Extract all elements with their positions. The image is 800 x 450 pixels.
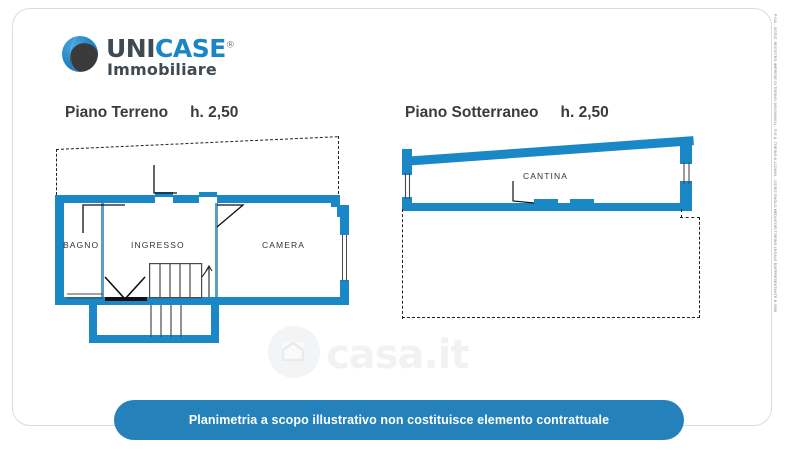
ground-floor-title-text: Piano Terreno [65, 104, 168, 121]
stairwell-wall-right [211, 305, 219, 343]
wall-exterior-left [55, 195, 64, 305]
ground-floor-drawing: BAGNO INGRESSO CAMERA [55, 135, 375, 345]
basement-boundary-dash-stub [681, 209, 682, 218]
door-swing-ingresso-top [151, 163, 181, 197]
legal-strip: P.IVA - ISCRIZ. REGISTRO IMPRESE DI TORI… [770, 14, 788, 394]
basement-height: h. 2,50 [561, 104, 609, 121]
basement-wall-right-upper [680, 138, 692, 164]
registered-mark-icon: ® [226, 41, 235, 51]
logo-word-uni: UNI [106, 34, 155, 63]
ground-floor-title: Piano Terrenoh. 2,50 [65, 104, 238, 122]
ground-floor-height: h. 2,50 [190, 104, 238, 121]
room-label-cantina: CANTINA [523, 171, 568, 181]
wall-exterior-top [55, 195, 339, 203]
basement-title: Piano Sotterraneoh. 2,50 [405, 104, 609, 122]
basement-door-threshold-1 [534, 199, 558, 204]
basement-wall-top [402, 136, 694, 166]
basement-door-threshold-2 [570, 199, 594, 204]
staircase-lower [149, 305, 207, 342]
basement-wall-bottom [402, 203, 682, 211]
disclaimer-text: Planimetria a scopo illustrativo non cos… [189, 413, 609, 427]
disclaimer-banner: Planimetria a scopo illustrativo non cos… [114, 400, 684, 440]
basement-boundary-dash-right [699, 217, 700, 318]
logo-wordmark: UNICASE® [106, 34, 234, 63]
wall-exterior-right-mid [340, 217, 349, 235]
logo-subtitle: Immobiliare [107, 60, 217, 79]
basement-window-left [403, 173, 413, 204]
company-logo: UNICASE® Immobiliare [62, 34, 282, 88]
boundary-dash-right [338, 136, 339, 194]
basement-boundary-dash-bottom [402, 317, 700, 318]
basement-title-text: Piano Sotterraneo [405, 104, 539, 121]
basement-window-right [681, 162, 693, 189]
logo-word-case: CASE [155, 34, 226, 63]
door-swing-camera [215, 203, 249, 233]
basement-door-swing [510, 179, 536, 205]
basement-boundary-dash-step [680, 217, 700, 218]
door-threshold-top-2 [199, 192, 217, 197]
stair-landing [103, 275, 155, 308]
boundary-dash-left [56, 149, 57, 195]
room-label-ingresso: INGRESSO [131, 240, 185, 250]
basement-boundary-dash-left [402, 209, 403, 319]
legal-strip-text: P.IVA - ISCRIZ. REGISTRO IMPRESE DI TORI… [773, 14, 777, 312]
window-mullion-2 [346, 235, 347, 281]
room-label-bagno: BAGNO [63, 240, 99, 250]
basement-wall-left-upper [402, 149, 412, 175]
globe-icon [62, 36, 98, 72]
window-bottom-left [67, 291, 103, 310]
staircase-main [149, 263, 215, 304]
boundary-dash-top [56, 136, 338, 150]
room-label-camera: CAMERA [262, 240, 305, 250]
window-mullion-1 [342, 235, 343, 281]
wall-exterior-notch [337, 205, 349, 217]
door-swing-bagno [81, 203, 125, 235]
floorplan-page: UNICASE® Immobiliare Piano Terrenoh. 2,5… [0, 0, 800, 450]
basement-drawing: CANTINA [392, 135, 722, 335]
